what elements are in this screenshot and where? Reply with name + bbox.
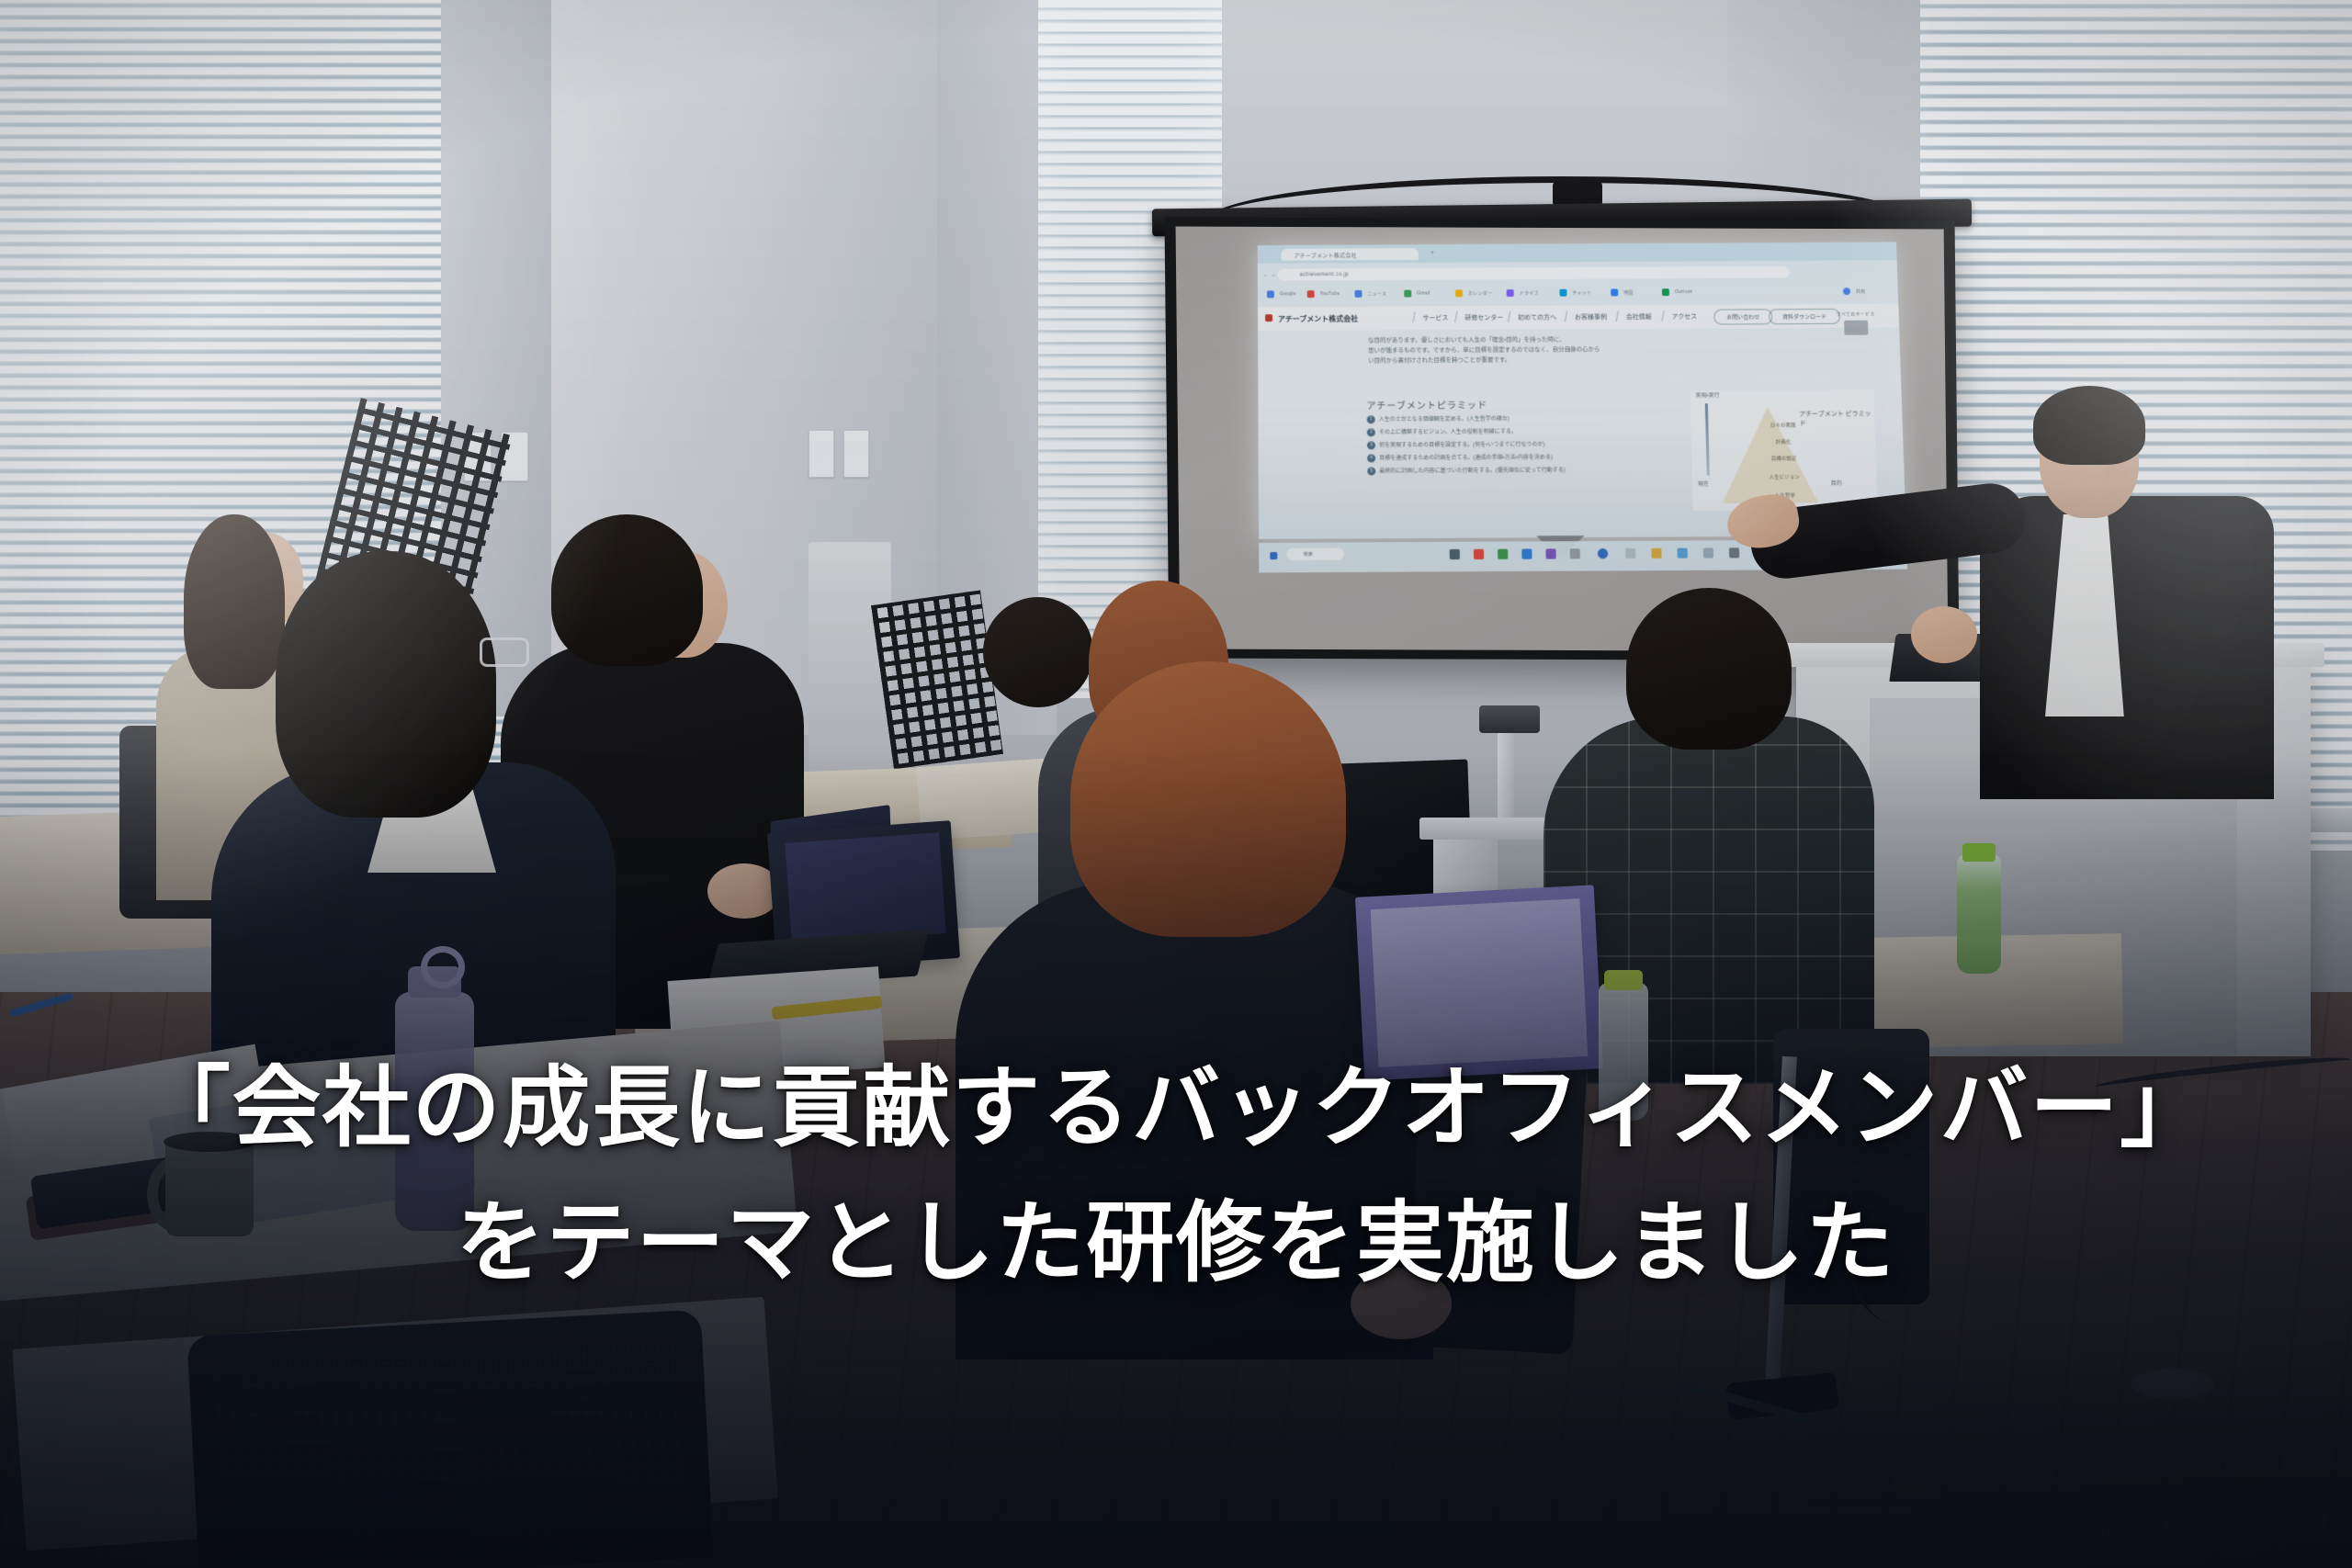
vignette-overlay [0, 0, 2352, 1568]
photo-canvas: アチーブメント株式会社 + achievement.co.jp ← → [0, 0, 2352, 1568]
